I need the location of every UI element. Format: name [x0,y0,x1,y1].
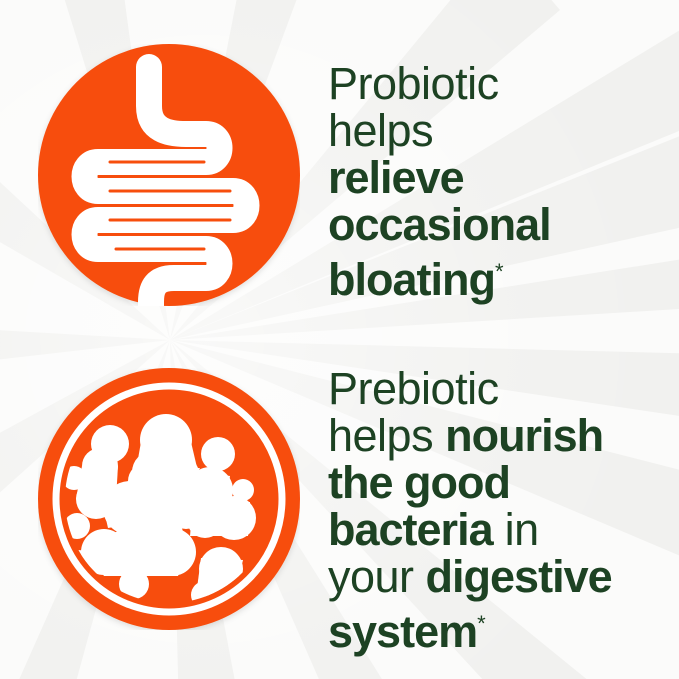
probiotic-line-4: occasional [328,201,664,248]
prebiotic-asterisk: * [477,611,486,636]
bacteria-icon [38,368,300,630]
prebiotic-line-3: the good [328,459,670,506]
prebiotic-text-block: Prebiotic helps nourish the good bacteri… [328,365,670,655]
prebiotic-line-5: your digestive [328,553,670,600]
intestine-icon [38,44,300,306]
prebiotic-word-nourish: nourish [445,410,603,461]
prebiotic-line-4: bacteria in [328,506,670,553]
prebiotic-line-2: helps nourish [328,412,670,459]
prebiotic-word-system: system [328,606,477,657]
probiotic-word-probiotic: Probiotic [328,58,499,109]
promo-graphic: Probiotic helps relieve occasional bloat… [0,0,679,679]
prebiotic-word-bacteria: bacteria [328,504,493,555]
probiotic-word-relieve: relieve [328,152,464,203]
probiotic-line-1: Probiotic [328,60,664,107]
probiotic-line-3: relieve [328,154,664,201]
prebiotic-word-helps: helps [328,410,445,461]
prebiotic-word-prebiotic: Prebiotic [328,363,499,414]
prebiotic-line-1: Prebiotic [328,365,670,412]
prebiotic-line-6: system* [328,600,670,655]
probiotic-text-block: Probiotic helps relieve occasional bloat… [328,60,664,303]
probiotic-word-helps: helps [328,105,433,156]
prebiotic-word-digestive: digestive [426,551,612,602]
prebiotic-word-your: your [328,551,426,602]
prebiotic-words-the-good: the good [328,457,510,508]
probiotic-word-bloating: bloating [328,254,495,305]
prebiotic-word-in: in [493,504,539,555]
probiotic-word-occasional: occasional [328,199,551,250]
probiotic-line-5: bloating* [328,248,664,303]
probiotic-asterisk: * [495,259,504,284]
probiotic-line-2: helps [328,107,664,154]
